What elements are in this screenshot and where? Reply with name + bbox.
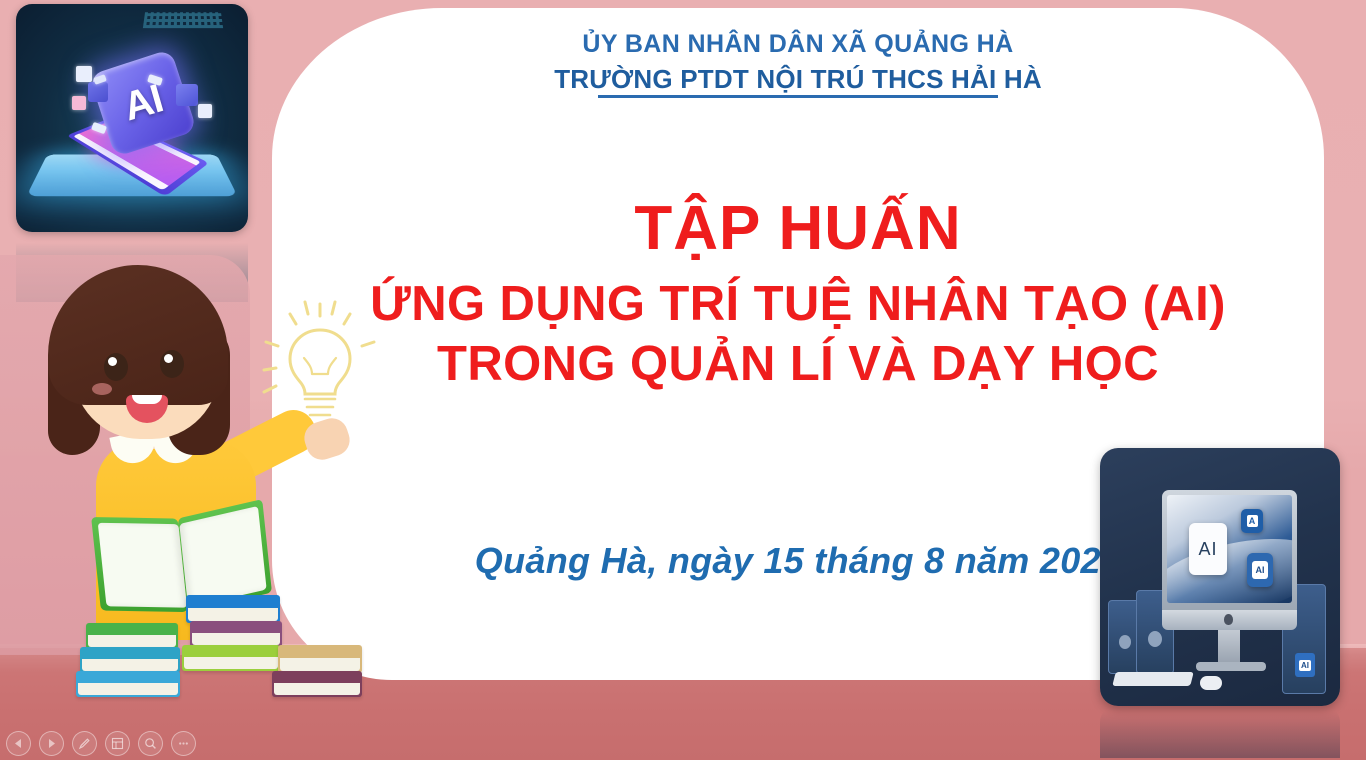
girl-eye-left — [104, 353, 128, 381]
computer-photo-reflection — [1100, 706, 1340, 758]
screen-ai-card-main: AI — [1189, 523, 1227, 575]
book — [80, 647, 180, 673]
book — [190, 621, 282, 647]
slides-grid-icon[interactable] — [105, 731, 130, 756]
organization-line: ỦY BAN NHÂN DÂN XÃ QUẢNG HÀ — [272, 30, 1324, 60]
book — [76, 671, 180, 697]
screen-ai-badge-medium: AI — [1247, 553, 1273, 587]
chip-vent-texture — [143, 12, 223, 28]
chip-pin — [76, 66, 92, 82]
subtitle-line-2: TRONG QUẢN LÍ VÀ DẠY HỌC — [272, 335, 1324, 395]
title-block: TẬP HUẤN ỨNG DỤNG TRÍ TUỆ NHÂN TẠO (AI) … — [272, 196, 1324, 394]
mouse — [1200, 676, 1222, 690]
chip-cube — [88, 82, 108, 102]
page-title: TẬP HUẤN — [272, 196, 1324, 263]
keyboard — [1112, 672, 1193, 686]
book — [272, 671, 362, 697]
presentation-slide: AI — [0, 0, 1366, 760]
presentation-toolbar[interactable] — [6, 730, 196, 756]
chip-pin — [198, 104, 212, 118]
pen-icon[interactable] — [72, 731, 97, 756]
more-options-icon[interactable] — [171, 731, 196, 756]
tower-ai-badge: AI — [1295, 653, 1315, 677]
book — [186, 595, 280, 623]
screen-wave-graphic — [1167, 525, 1292, 603]
book — [86, 623, 178, 649]
lightbulb-illustration — [262, 300, 378, 432]
lightbulb-icon — [262, 300, 378, 432]
header-block: ỦY BAN NHÂN DÂN XÃ QUẢNG HÀ TRƯỜNG PTDT … — [272, 30, 1324, 94]
monitor-stand — [1218, 630, 1240, 664]
monitor-foot — [1196, 662, 1266, 671]
next-icon[interactable] — [39, 731, 64, 756]
monitor-bezel: AI A AI — [1162, 490, 1297, 616]
subtitle-line-1: ỨNG DỤNG TRÍ TUỆ NHÂN TẠO (AI) — [272, 275, 1324, 335]
chip-pin — [72, 96, 86, 110]
girl-eye-right — [160, 350, 184, 378]
apple-logo-icon — [1224, 614, 1233, 625]
ai-computer-photo: AI AI A AI — [1100, 448, 1340, 706]
school-name-line: TRƯỜNG PTDT NỘI TRÚ THCS HẢI HÀ — [554, 64, 1042, 95]
book — [182, 645, 280, 671]
ai-chip-illustration: AI — [16, 4, 248, 232]
book — [278, 645, 362, 673]
previous-icon[interactable] — [6, 731, 31, 756]
book-page-right — [179, 506, 266, 608]
screen-ai-badge-small: A — [1241, 509, 1263, 533]
monitor-screen: AI A AI — [1167, 495, 1292, 603]
zoom-icon[interactable] — [138, 731, 163, 756]
girl-cheek — [92, 383, 112, 395]
book-page-left — [98, 523, 187, 608]
chip-cube — [176, 84, 198, 106]
